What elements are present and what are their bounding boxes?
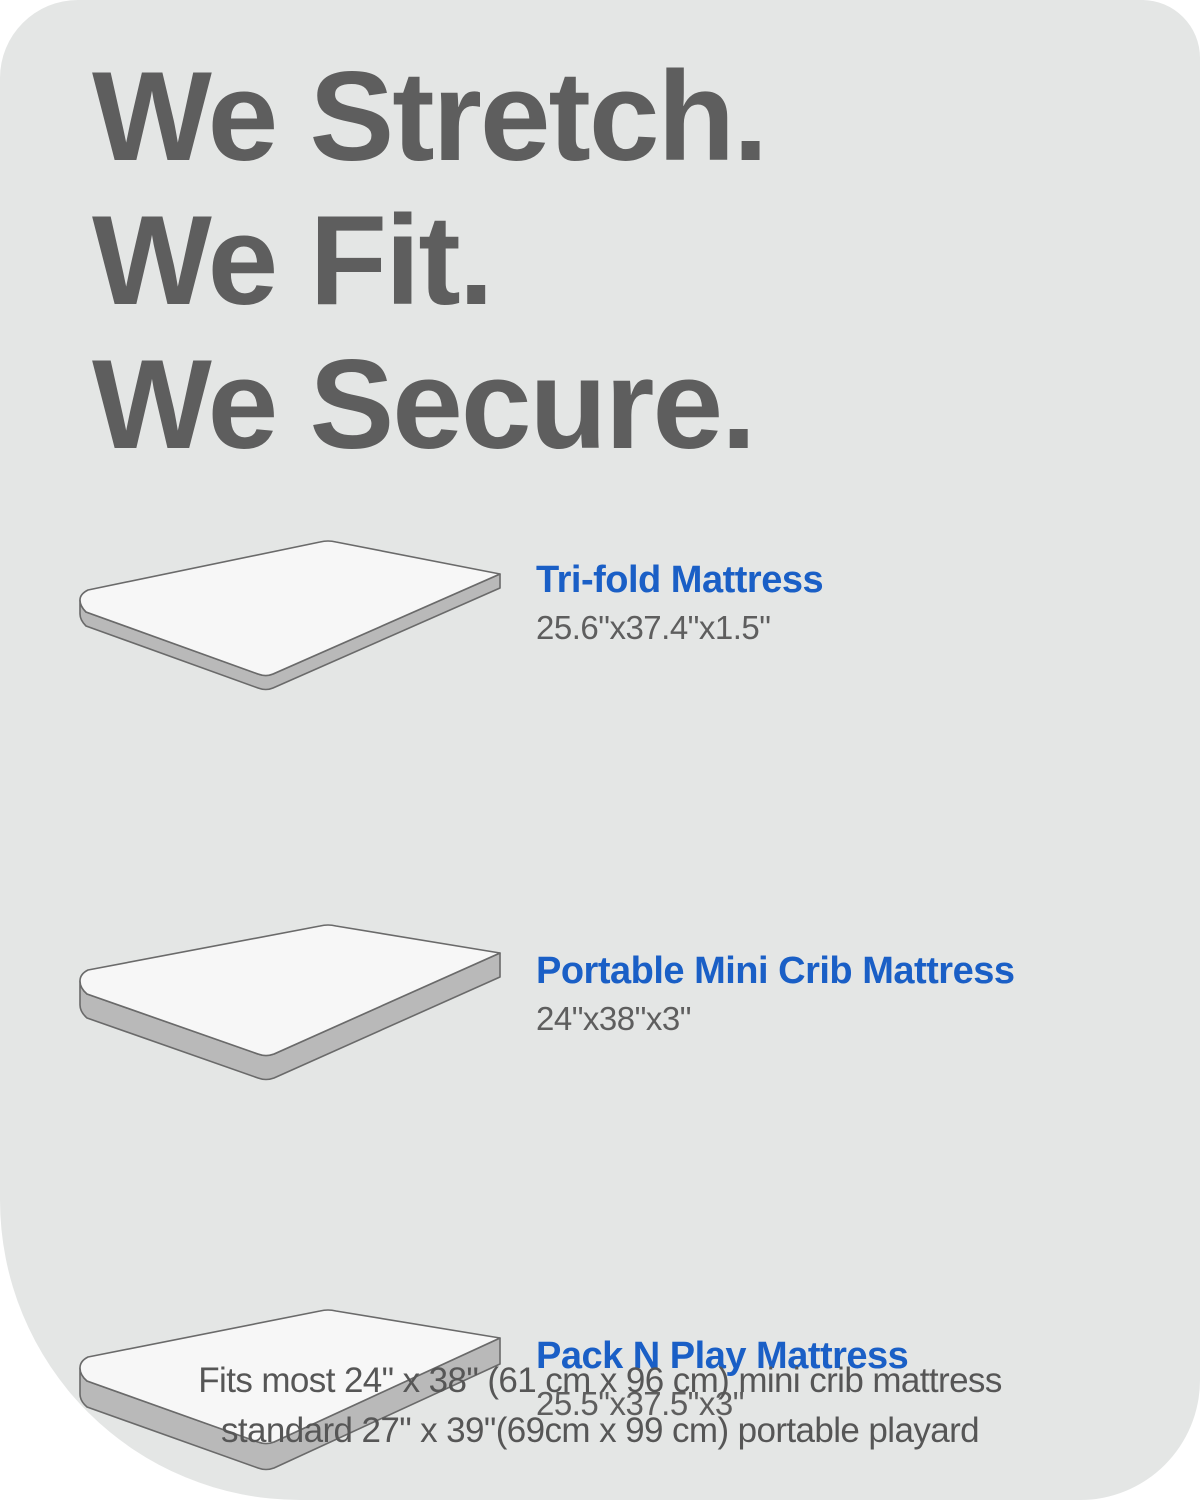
headline-line-2: We Fit. [92, 188, 1092, 332]
headline-block: We Stretch. We Fit. We Secure. [92, 44, 1092, 476]
product-row: Pack N Play Mattress 25.5"x37.5"x5" [0, 1095, 1200, 1288]
headline-line-1: We Stretch. [92, 44, 1092, 188]
footer-line-2: standard 27" x 39"(69cm x 99 cm) portabl… [0, 1406, 1200, 1456]
product-dimensions: 25.6"x37.4"x1.5" [536, 608, 1176, 648]
headline-line-3: We Secure. [92, 332, 1092, 476]
product-row: Tri-fold Mattress 25.6"x37.4"x1.5" [0, 516, 1200, 709]
footer-line-1: Fits most 24" x 38" (61 cm x 96 cm) mini… [0, 1356, 1200, 1406]
mattress-thin-icon [62, 538, 522, 731]
product-list: Tri-fold Mattress 25.6"x37.4"x1.5" Porta… [0, 516, 1200, 1288]
product-row: Pack N Play Mattress 25.5"x37.5"x3" [0, 902, 1200, 1095]
product-row: Portable Mini Crib Mattress 24"x38"x3" [0, 709, 1200, 902]
footer-note: Fits most 24" x 38" (61 cm x 96 cm) mini… [0, 1356, 1200, 1456]
product-info: Tri-fold Mattress 25.6"x37.4"x1.5" [536, 558, 1176, 648]
product-title: Tri-fold Mattress [536, 558, 1176, 602]
product-infographic-poster: We Stretch. We Fit. We Secure. Tri-fold … [0, 0, 1200, 1500]
